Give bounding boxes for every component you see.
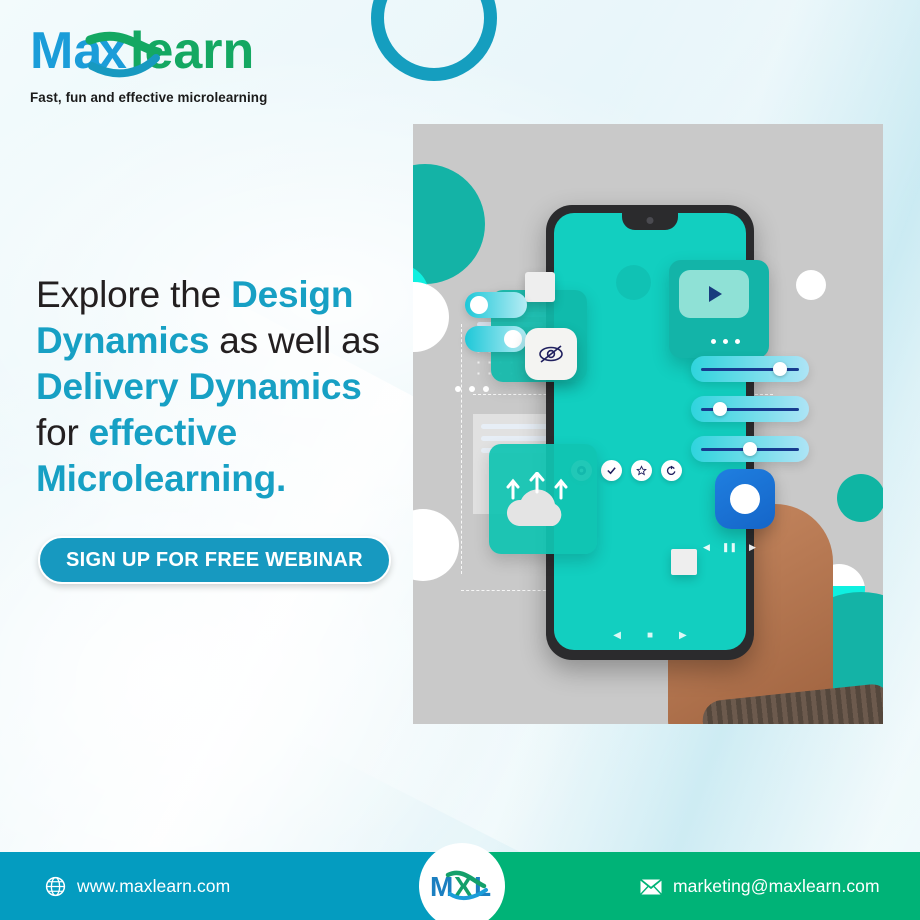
screen-avatar-placeholder <box>616 265 651 300</box>
slider-knob[interactable] <box>773 362 787 376</box>
footer-badge: M X L <box>419 843 505 920</box>
promo-banner: Ma x learn Fast, fun and effective micro… <box>0 0 920 920</box>
guide-line-horizontal-bottom-left <box>461 590 556 591</box>
carousel-dots <box>711 339 740 344</box>
maxlearn-logo-icon: Ma x learn <box>30 22 300 84</box>
deco-circle-teal-left <box>413 164 485 284</box>
slider-knob[interactable] <box>713 402 727 416</box>
signup-webinar-button-label: SIGN UP FOR FREE WEBINAR <box>66 549 363 572</box>
small-square-marker <box>525 272 555 302</box>
globe-icon <box>45 876 66 897</box>
signup-webinar-button[interactable]: SIGN UP FOR FREE WEBINAR <box>38 536 391 584</box>
refresh-icon[interactable] <box>661 460 682 481</box>
play-icon <box>703 283 725 305</box>
slider-3[interactable] <box>691 436 809 462</box>
envelope-icon <box>640 879 662 895</box>
deco-circle-white-left <box>413 282 449 352</box>
recents-icon[interactable]: ▶ <box>679 630 687 641</box>
footer-website[interactable]: www.maxlearn.com <box>45 876 230 897</box>
home-icon[interactable]: ■ <box>647 630 653 641</box>
footer-website-text: www.maxlearn.com <box>77 876 230 897</box>
record-icon <box>730 484 760 514</box>
eye-off-icon <box>537 343 565 365</box>
footer-email-text: marketing@maxlearn.com <box>673 876 880 897</box>
phone-notch <box>622 213 678 230</box>
brand-logo: Ma x learn Fast, fun and effective micro… <box>30 22 330 105</box>
cloud-upload-card[interactable] <box>489 444 597 554</box>
toggle-knob <box>504 330 522 348</box>
record-button[interactable] <box>715 469 775 529</box>
guide-dot-2 <box>469 386 475 392</box>
small-square-marker-2 <box>671 549 697 575</box>
headline-line3-accent: Delivery Dynamics <box>36 366 362 407</box>
toggle-switch-on[interactable] <box>465 292 527 318</box>
headline-line4-accent: effective <box>89 412 237 453</box>
headline-line1-accent: Design <box>231 274 353 315</box>
brand-tagline: Fast, fun and effective microlearning <box>30 90 330 105</box>
front-camera-icon <box>647 217 654 224</box>
guide-dot-3 <box>483 386 489 392</box>
slider-knob[interactable] <box>743 442 757 456</box>
previous-icon[interactable]: ◀ <box>703 542 710 553</box>
back-icon[interactable]: ◀ <box>613 630 621 641</box>
deco-circle-white-right <box>796 270 826 300</box>
playback-controls: ◀ ❚❚ ▶ <box>703 542 756 553</box>
slider-2[interactable] <box>691 396 809 422</box>
illustration-panel: ◀ ■ ▶ <box>413 124 883 724</box>
svg-text:Ma: Ma <box>30 22 103 80</box>
deco-circle-white-lower-left <box>413 509 459 581</box>
decorative-ring <box>371 0 497 81</box>
headline-line4-plain: for <box>36 412 89 453</box>
pause-icon[interactable]: ❚❚ <box>722 542 737 553</box>
mxl-badge-icon: M X L <box>428 866 496 906</box>
footer-bar: M X L www.maxlearn.com <box>0 852 920 920</box>
video-play-card[interactable] <box>669 260 769 358</box>
footer-email[interactable]: marketing@maxlearn.com <box>640 876 880 897</box>
logo-wordmark: Ma x learn <box>30 22 330 84</box>
video-thumbnail <box>679 270 749 318</box>
headline-line2-plain: as well as <box>209 320 380 361</box>
check-icon[interactable] <box>601 460 622 481</box>
headline-line1-plain: Explore the <box>36 274 231 315</box>
eye-off-card[interactable] <box>525 328 577 380</box>
guide-line-vertical-left <box>461 324 462 574</box>
cloud-upload-icon <box>497 472 589 542</box>
headline-line5-accent: Microlearning. <box>36 458 286 499</box>
slider-1[interactable] <box>691 356 809 382</box>
headline-line2-accent: Dynamics <box>36 320 209 361</box>
toggle-knob <box>470 296 488 314</box>
star-icon[interactable] <box>631 460 652 481</box>
headline: Explore the Design Dynamics as well as D… <box>36 272 428 502</box>
next-icon[interactable]: ▶ <box>749 542 756 553</box>
nav-bar: ◀ ■ ▶ <box>554 630 746 641</box>
guide-dot-1 <box>455 386 461 392</box>
toggle-switch-off[interactable] <box>465 326 527 352</box>
